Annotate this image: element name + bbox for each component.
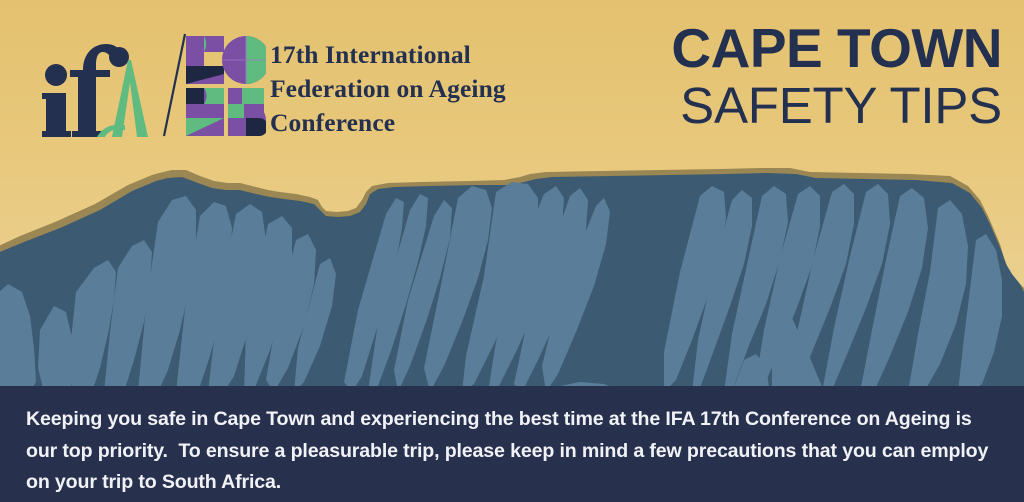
conference-line-1: 17th International (270, 38, 570, 72)
digit-5-bottom (228, 88, 266, 136)
cape-town-safety-tips-banner: 17th International Federation on Ageing … (0, 0, 1024, 502)
digit-2-top (186, 36, 224, 84)
conference-wordmark: 17th International Federation on Ageing … (270, 38, 570, 140)
digit-0-top (222, 36, 266, 84)
year-2025-logo (186, 36, 266, 136)
conference-line-3: Conference (270, 106, 570, 140)
footer-paragraph: Keeping you safe in Cape Town and experi… (26, 404, 998, 499)
conference-line-2: Federation on Ageing (270, 72, 570, 106)
ifa-logo-icon (36, 30, 148, 138)
banner-header: 17th International Federation on Ageing … (0, 0, 1024, 150)
title-line-safety-tips: SAFETY TIPS (671, 80, 1002, 131)
title-line-cape-town: CAPE TOWN (671, 21, 1002, 76)
footer-bar: Keeping you safe in Cape Town and experi… (0, 386, 1024, 502)
digit-2-bottom (186, 88, 224, 136)
page-title: CAPE TOWN SAFETY TIPS (671, 21, 1002, 131)
